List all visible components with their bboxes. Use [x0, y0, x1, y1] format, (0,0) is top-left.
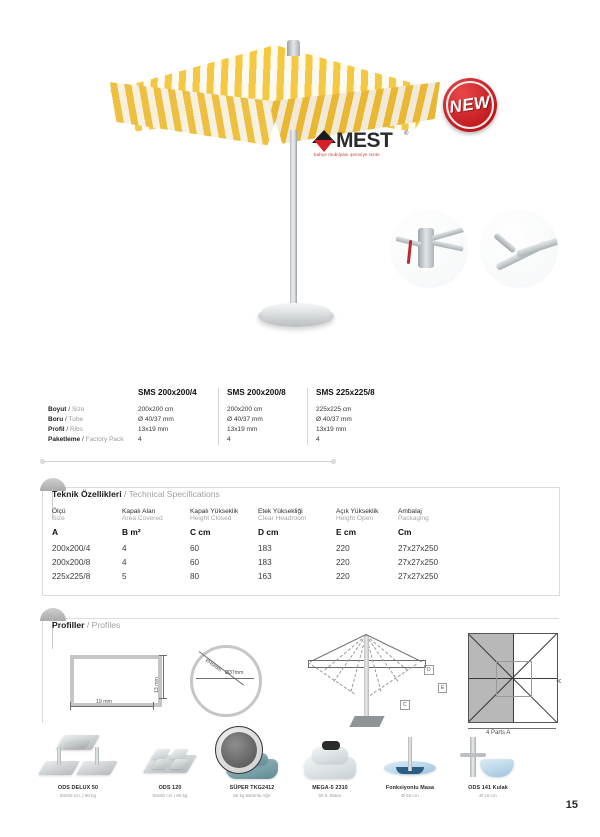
- table-row: Profil / Ribs 13x19 mm 13x19 mm 13x19 mm: [48, 424, 388, 434]
- tech-code-3: D cm: [258, 527, 336, 542]
- hub-body: [418, 228, 434, 268]
- rect-height-label: 13 mm: [154, 677, 160, 693]
- rect-width-label: 19 mm: [96, 699, 112, 705]
- tech-hdr-tr-2: Kapalı Yükseklik: [190, 508, 258, 515]
- dim-marker-e: E: [438, 683, 447, 693]
- tech-hdr-tr-5: Ambalaj: [398, 508, 472, 515]
- tech-r2-c5: 27x27x250: [398, 570, 472, 584]
- accessory-name: Fonksiyonlu Masa: [370, 785, 450, 791]
- catalog-page: NEW MEST ® bahçe mobilyası şemsiye tente: [0, 0, 600, 837]
- tech-hdr-tr-3: Etek Yüksekliği: [258, 508, 336, 515]
- tech-r0-c1: 4: [122, 542, 190, 556]
- page-number: 15: [566, 799, 578, 811]
- tech-r1-c3: 183: [258, 556, 336, 570]
- accessory-name: ODS 141 Kulak: [448, 785, 528, 791]
- cell-pack-1: 4: [138, 435, 219, 445]
- model-header-1: SMS 200x200/4: [138, 388, 219, 404]
- tech-spec-table: Ölçü Kapalı Alan Kapalı Yükseklik Etek Y…: [52, 508, 472, 583]
- dim-marker-c: C: [400, 700, 410, 710]
- tech-hdr-tr-1: Kapalı Alan: [122, 508, 190, 515]
- umbrella-base-top: [262, 303, 330, 319]
- joint-arm-upper: [516, 237, 558, 257]
- accessory-spec: 50x50 cm. | 80 kg: [38, 793, 118, 798]
- tech-spec-title: Teknik Özellikleri / Technical Specifica…: [52, 489, 220, 499]
- accessory-spec: 50x50 cm | 80 kg: [130, 793, 210, 798]
- table-row: Paketleme / Factory Pack 4 4 4: [48, 435, 388, 445]
- row-label-ribs: Profil / Ribs: [48, 424, 138, 434]
- tech-r2-c0: 225x225/8: [52, 570, 122, 584]
- tech-hdr-en-0: Size: [52, 515, 122, 527]
- tech-hdr-en-2: Height Closed: [190, 515, 258, 527]
- tech-code-2: C cm: [190, 527, 258, 542]
- mest-logo-text: MEST: [336, 129, 392, 153]
- tech-r0-c3: 183: [258, 542, 336, 556]
- drawing-base: [349, 716, 384, 727]
- mest-logo-tagline: bahçe mobilyası şemsiye tente: [314, 152, 380, 157]
- accessory-art-ods-delux-50: [38, 733, 118, 785]
- tech-code-0: A: [52, 527, 122, 542]
- tech-hdr-tr-0: Ölçü: [52, 508, 122, 515]
- tech-r0-c4: 220: [336, 542, 398, 556]
- accessory-item: MEGA-5 2310 50 lt. Bidon: [290, 733, 370, 798]
- umbrella-technical-drawing: [300, 622, 440, 734]
- tube-inner-dimline: [196, 678, 254, 679]
- cell-ribs-1: 13x19 mm: [138, 424, 219, 434]
- model-table-header-row: SMS 200x200/4 SMS 200x200/8 SMS 225x225/…: [48, 388, 388, 404]
- canopy-parts-diagram: [468, 633, 558, 723]
- tech-hdr-en-5: Packaging: [398, 515, 472, 527]
- mest-logo: MEST ® bahçe mobilyası şemsiye tente: [312, 128, 417, 162]
- profiles-title-tr: Profiller: [52, 620, 84, 630]
- new-badge: NEW: [443, 78, 497, 132]
- rect-profile-diagram: [70, 655, 162, 707]
- accessory-spec: 50 kg Betonlu Ağır: [212, 793, 292, 798]
- tech-header-tr-row: Ölçü Kapalı Alan Kapalı Yükseklik Etek Y…: [52, 508, 472, 515]
- cell-tube-3: Ø 40/37 mm: [308, 414, 389, 424]
- drawing-mast: [364, 636, 369, 718]
- cell-tube-1: Ø 40/37 mm: [138, 414, 219, 424]
- tech-r2-c1: 5: [122, 570, 190, 584]
- new-badge-label: NEW: [440, 75, 501, 136]
- table-row: Boyut / Size 200x200 cm 200x200 cm 225x2…: [48, 404, 388, 414]
- row-label-pack: Paketleme / Factory Pack: [48, 435, 138, 445]
- registered-mark-icon: ®: [404, 131, 408, 137]
- tech-header-en-row: Size Area Covered Height Closed Clear He…: [52, 515, 472, 527]
- tech-r0-c2: 60: [190, 542, 258, 556]
- dim-marker-d: D: [424, 665, 434, 675]
- tech-code-1: B m²: [122, 527, 190, 542]
- accessory-name: SÜPER TKG2412: [212, 785, 292, 791]
- row-label-size: Boyut / Size: [48, 404, 138, 414]
- accessory-spec: Ø 16 cm: [448, 793, 528, 798]
- tech-r1-c1: 4: [122, 556, 190, 570]
- umbrella-finial: [287, 40, 300, 56]
- rect-height-dimline: [163, 655, 164, 699]
- tech-r1-c5: 27x27x250: [398, 556, 472, 570]
- tech-hdr-en-1: Area Covered: [122, 515, 190, 527]
- accessory-name: ODS 120: [130, 785, 210, 791]
- accessory-art-fonksiyonlu-masa: [370, 733, 450, 785]
- accessory-art-mega-5-2310: [290, 733, 370, 785]
- accessory-name: ODS DELUX 50: [38, 785, 118, 791]
- tube-profile-diagram: [190, 645, 262, 717]
- tech-spec-title-tr: Teknik Özellikleri: [52, 489, 122, 499]
- model-header-3: SMS 225x225/8: [308, 388, 389, 404]
- accessory-art-ods-141-kulak: [448, 733, 528, 785]
- accessory-spec: Ø 50 cm: [370, 793, 450, 798]
- guarantee-seal-icon: [215, 726, 263, 774]
- cell-ribs-3: 13x19 mm: [308, 424, 389, 434]
- table-row: 225x225/8 5 80 163 220 27x27x250: [52, 570, 472, 584]
- cell-ribs-2: 13x19 mm: [219, 424, 308, 434]
- section-divider-1: [42, 461, 334, 462]
- cell-size-1: 200x200 cm: [138, 404, 219, 414]
- row-label-tube: Boru / Tube: [48, 414, 138, 424]
- tube-inner-label: Ø37mm: [225, 670, 243, 676]
- model-header-2: SMS 200x200/8: [219, 388, 308, 404]
- tech-r1-c0: 200x200/8: [52, 556, 122, 570]
- profiles-title: Profiller / Profiles: [52, 620, 120, 630]
- guarantee-seal-inner: [221, 732, 257, 768]
- table-row: Boru / Tube Ø 40/37 mm Ø 40/37 mm Ø 40/3…: [48, 414, 388, 424]
- table-row: 200x200/8 4 60 183 220 27x27x250: [52, 556, 472, 570]
- accessory-item: ODS 120 50x50 cm | 80 kg: [130, 733, 210, 798]
- profiles-title-en: Profiles: [92, 620, 121, 630]
- joint-strut: [493, 232, 517, 253]
- accessory-name: MEGA-5 2310: [290, 785, 370, 791]
- accessory-item: ODS 141 Kulak Ø 16 cm: [448, 733, 528, 798]
- accessory-art-ods-120: [130, 733, 210, 785]
- product-hero-photo: NEW MEST ® bahçe mobilyası şemsiye tente: [0, 0, 600, 370]
- tech-r0-c0: 200x200/4: [52, 542, 122, 556]
- tech-r2-c2: 80: [190, 570, 258, 584]
- umbrella-pole: [290, 130, 297, 320]
- accessory-item: ODS DELUX 50 50x50 cm. | 80 kg: [38, 733, 118, 798]
- tech-hdr-en-3: Clear Headroom: [258, 515, 336, 527]
- tech-r1-c4: 220: [336, 556, 398, 570]
- parts-side-label: A: [557, 679, 563, 683]
- cell-tube-2: Ø 40/37 mm: [219, 414, 308, 424]
- tech-code-4: E cm: [336, 527, 398, 542]
- table-row: 200x200/4 4 60 183 220 27x27x250: [52, 542, 472, 556]
- model-comparison-table: SMS 200x200/4 SMS 200x200/8 SMS 225x225/…: [48, 388, 388, 445]
- tech-r0-c5: 27x27x250: [398, 542, 472, 556]
- cell-size-2: 200x200 cm: [219, 404, 308, 414]
- tech-hdr-tr-4: Açık Yükseklik: [336, 508, 398, 515]
- cell-size-3: 225x225 cm: [308, 404, 389, 414]
- rect-width-dimline: [70, 706, 154, 707]
- accessory-spec: 50 lt. Bidon: [290, 793, 370, 798]
- detail-photo-hub: [390, 210, 468, 288]
- tech-r2-c3: 163: [258, 570, 336, 584]
- cell-pack-2: 4: [219, 435, 308, 445]
- tech-hdr-en-4: Height Open: [336, 515, 398, 527]
- tech-header-code-row: A B m² C cm D cm E cm Cm: [52, 527, 472, 542]
- tech-r1-c2: 60: [190, 556, 258, 570]
- accessory-item: Fonksiyonlu Masa Ø 50 cm: [370, 733, 450, 798]
- tech-r2-c4: 220: [336, 570, 398, 584]
- cell-pack-3: 4: [308, 435, 389, 445]
- mest-logo-mark-icon: [312, 130, 336, 154]
- tech-spec-title-en: Technical Specifications: [129, 489, 220, 499]
- detail-photo-joint: [480, 210, 558, 288]
- tech-code-5: Cm: [398, 527, 472, 542]
